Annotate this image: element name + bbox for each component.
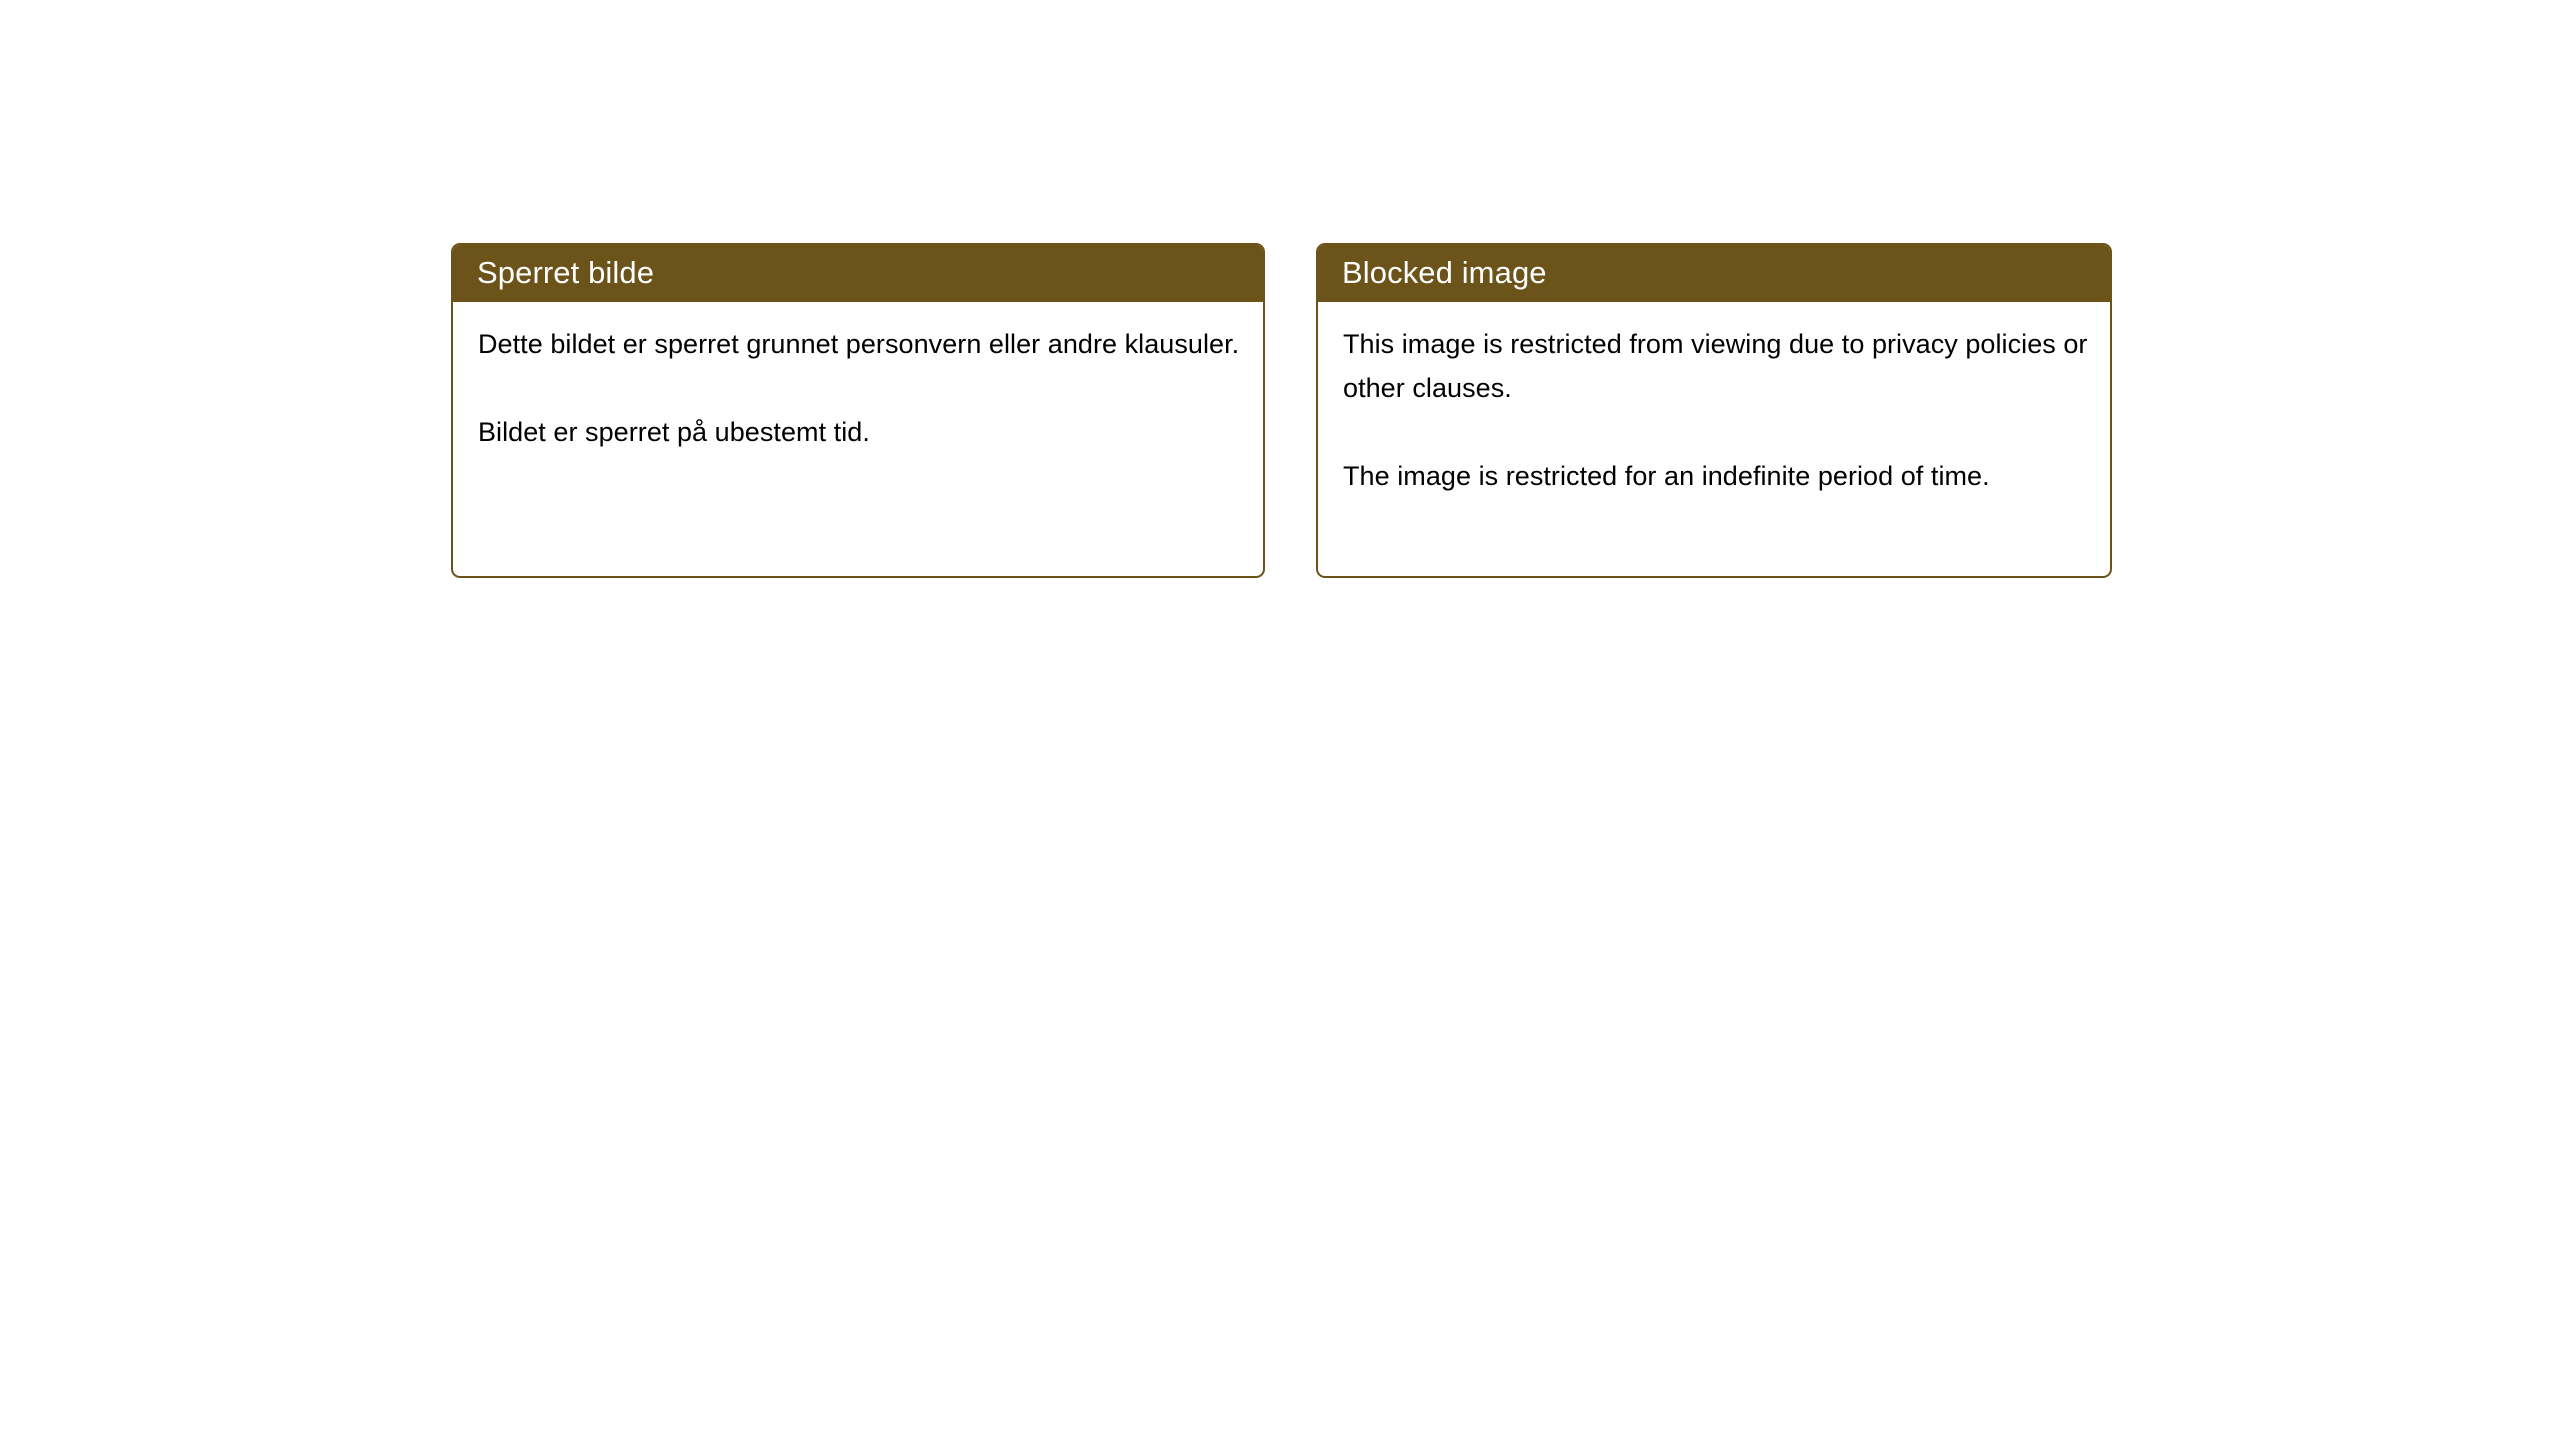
notice-paragraph-reason-english: This image is restricted from viewing du… [1343, 322, 2088, 410]
notice-paragraph-reason-norwegian: Dette bildet er sperret grunnet personve… [478, 322, 1241, 366]
notice-body-norwegian: Dette bildet er sperret grunnet personve… [453, 302, 1263, 454]
notice-paragraph-duration-norwegian: Bildet er sperret på ubestemt tid. [478, 410, 1241, 454]
notice-title-norwegian: Sperret bilde [477, 256, 654, 290]
page-root: Sperret bilde Dette bildet er sperret gr… [0, 0, 2560, 1440]
paragraph-spacer [478, 366, 1241, 410]
notice-paragraph-duration-english: The image is restricted for an indefinit… [1343, 454, 2088, 498]
notice-title-english: Blocked image [1342, 256, 1547, 290]
notice-header-english: Blocked image [1317, 244, 2111, 302]
paragraph-spacer [1343, 410, 2088, 454]
notice-body-english: This image is restricted from viewing du… [1318, 302, 2110, 498]
blocked-image-notice-english: Blocked image This image is restricted f… [1316, 243, 2112, 578]
blocked-image-notice-norwegian: Sperret bilde Dette bildet er sperret gr… [451, 243, 1265, 578]
notice-header-norwegian: Sperret bilde [452, 244, 1264, 302]
